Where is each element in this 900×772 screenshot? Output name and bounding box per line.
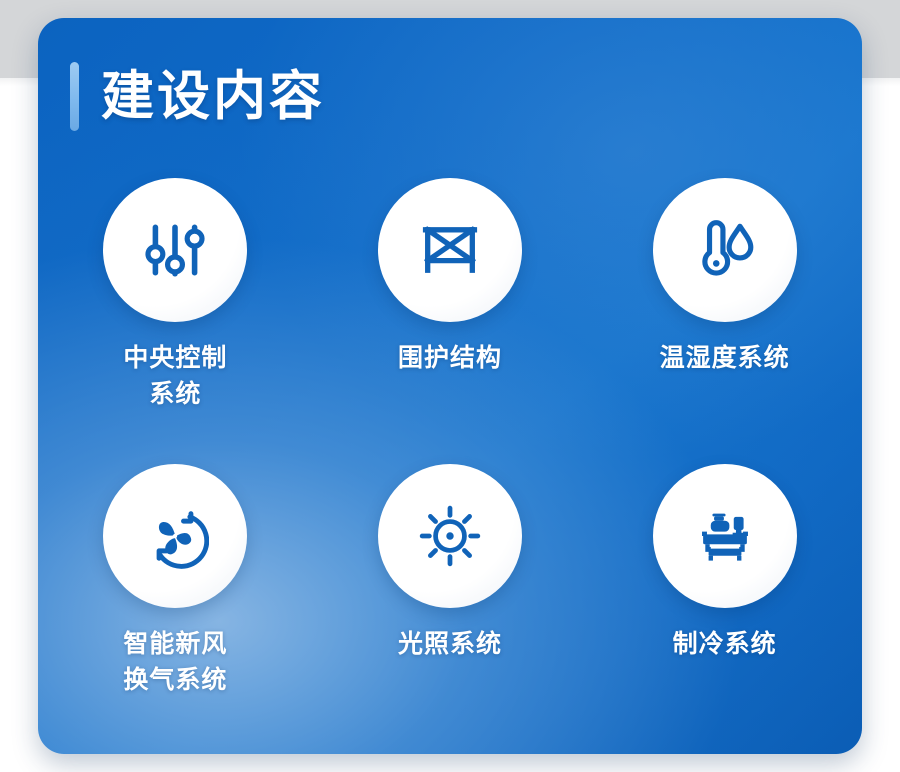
feature-label: 制冷系统 <box>673 627 777 663</box>
icon-circle <box>653 464 797 608</box>
frame-structure-icon <box>416 216 484 284</box>
feature-item-central-control[interactable]: 中央控制 系统 <box>38 178 313 412</box>
feature-label: 智能新风 换气系统 <box>123 627 227 698</box>
feature-label: 光照系统 <box>398 627 502 663</box>
feature-label: 围护结构 <box>398 341 502 377</box>
icon-circle <box>378 464 522 608</box>
title-accent-bar <box>70 62 79 131</box>
page-root: 建设内容 <box>0 0 900 772</box>
construction-content-card: 建设内容 <box>38 18 862 754</box>
sun-light-icon <box>417 503 483 569</box>
sliders-icon <box>142 217 208 283</box>
icon-circle <box>378 178 522 322</box>
icon-circle <box>653 178 797 322</box>
page-title: 建设内容 <box>101 70 325 123</box>
icon-circle <box>103 178 247 322</box>
feature-item-lighting[interactable]: 光照系统 <box>313 464 588 698</box>
card-header: 建设内容 <box>70 62 325 131</box>
chiller-machine-icon <box>690 501 760 571</box>
icon-circle <box>103 464 247 608</box>
feature-grid: 中央控制 系统 <box>38 178 862 698</box>
feature-label: 中央控制 系统 <box>123 341 227 412</box>
thermometer-droplet-icon <box>692 217 758 283</box>
feature-item-temperature-humidity[interactable]: 温湿度系统 <box>587 178 862 412</box>
fan-circulation-icon <box>141 502 209 570</box>
feature-label: 温湿度系统 <box>660 341 790 377</box>
feature-item-smart-fresh-air[interactable]: 智能新风 换气系统 <box>38 464 313 698</box>
feature-item-enclosure-structure[interactable]: 围护结构 <box>313 178 588 412</box>
feature-item-refrigeration[interactable]: 制冷系统 <box>587 464 862 698</box>
